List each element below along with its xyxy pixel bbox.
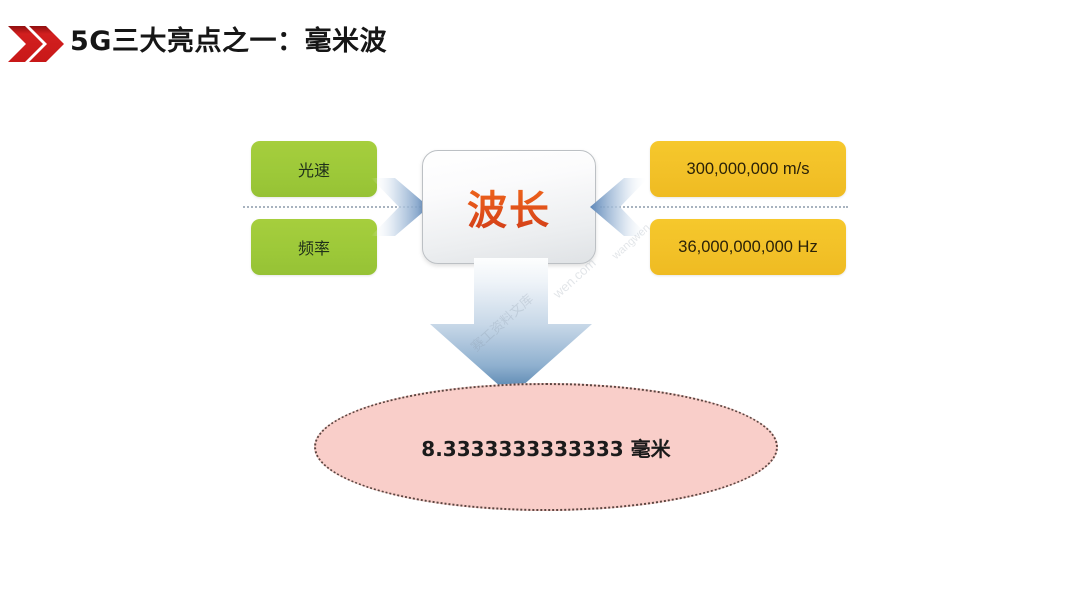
result-ellipse[interactable]: 8.3333333333333 毫米 (314, 383, 778, 511)
result-label: 8.3333333333333 毫米 (421, 433, 670, 462)
value-label: 300,000,000 m/s (687, 160, 810, 179)
input-box-speed-of-light[interactable]: 光速 (251, 141, 377, 197)
value-box-frequency[interactable]: 36,000,000,000 Hz (650, 219, 846, 275)
arrow-down-icon (428, 258, 594, 398)
value-label: 36,000,000,000 Hz (678, 238, 817, 257)
input-box-frequency[interactable]: 频率 (251, 219, 377, 275)
wavelength-formula-diagram: 光速 频率 波长 (0, 0, 1080, 613)
operation-label: 波长 (467, 178, 551, 236)
chevron-left-icon (588, 168, 650, 246)
operation-box-wavelength[interactable]: 波长 (422, 150, 596, 264)
value-box-light-speed[interactable]: 300,000,000 m/s (650, 141, 846, 197)
input-label: 频率 (298, 235, 330, 259)
slide-canvas: 5G三大亮点之一：毫米波 光速 频率 (0, 0, 1080, 613)
input-label: 光速 (298, 157, 330, 181)
